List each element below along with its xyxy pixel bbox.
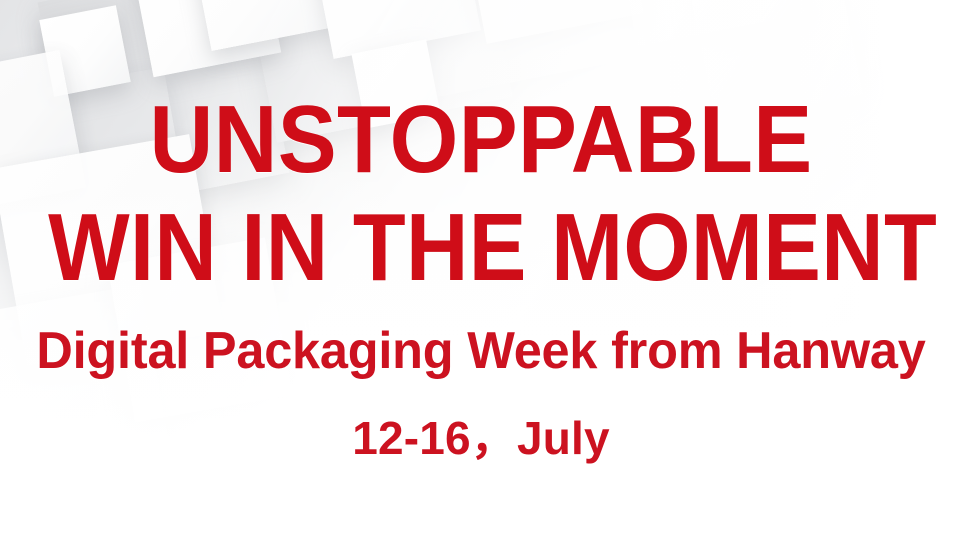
dateline: 12-16，July xyxy=(0,415,962,461)
promo-slide: UNSTOPPABLE WIN IN THE MOMENT Digital Pa… xyxy=(0,0,962,542)
headline-line-2: WIN IN THE MOMENT xyxy=(48,200,914,296)
headline-line-1: UNSTOPPABLE xyxy=(38,92,923,188)
slide-content: UNSTOPPABLE WIN IN THE MOMENT Digital Pa… xyxy=(0,0,962,542)
subtitle: Digital Packaging Week from Hanway xyxy=(14,325,947,377)
